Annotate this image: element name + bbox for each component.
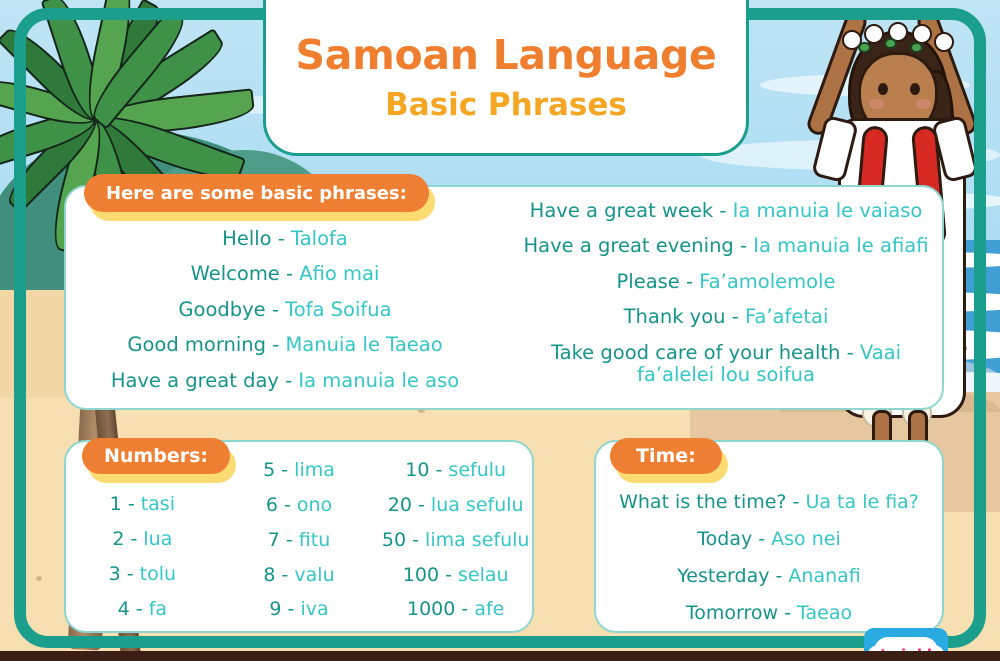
number-samoan: fitu: [299, 529, 330, 551]
time-row: What is the time? - Ua ta le fia?: [604, 492, 934, 514]
time-samoan: Aso nei: [771, 528, 841, 550]
number-samoan: valu: [294, 564, 334, 586]
number-value: 50: [382, 529, 406, 551]
phrase-row: Good morning - Manuia le Taeao: [90, 334, 480, 356]
numbers-column-3: 10 - sefulu 20 - lua sefulu 50 - lima se…: [377, 450, 534, 630]
number-dash: -: [282, 564, 289, 586]
phrase-samoan: Tofa Soifua: [285, 298, 391, 321]
number-samoan: tasi: [141, 493, 175, 515]
phrase-dash: -: [740, 234, 747, 257]
time-english: What is the time?: [619, 491, 786, 513]
eye-left: [878, 83, 888, 95]
number-dash: -: [284, 494, 291, 516]
number-value: 9: [269, 598, 281, 620]
number-dash: -: [412, 529, 419, 551]
time-heading-label: Time:: [610, 438, 722, 474]
phrase-dash: -: [732, 305, 739, 328]
number-samoan: iva: [300, 598, 328, 620]
number-row: 3 - tolu: [64, 564, 221, 586]
cheek-blush-right: [916, 99, 931, 109]
numbers-heading-pill: Numbers:: [82, 438, 230, 474]
bottom-edge-strip: [0, 651, 1000, 661]
number-dash: -: [286, 529, 293, 551]
time-english: Yesterday: [677, 565, 769, 587]
time-dash: -: [784, 602, 791, 624]
phrase-english: Thank you: [624, 305, 726, 328]
phrase-row: Take good care of your health - Vaai fa’…: [520, 342, 932, 387]
number-row: 100 - selau: [377, 565, 534, 587]
sand-pebble: [556, 638, 564, 647]
number-dash: -: [445, 564, 452, 586]
number-samoan: lua: [143, 528, 172, 550]
phrase-dash: -: [686, 270, 693, 293]
phrase-english: Welcome: [191, 262, 280, 285]
number-value: 20: [388, 494, 412, 516]
poster-canvas: Samoan Language Basic Phrases Here are s…: [0, 0, 1000, 661]
number-samoan: ono: [297, 494, 332, 516]
time-dash: -: [793, 491, 800, 513]
number-value: 4: [118, 598, 130, 620]
phrase-dash: -: [286, 262, 293, 285]
crown-leaf: [884, 38, 897, 49]
number-value: 3: [109, 563, 121, 585]
number-samoan: selau: [458, 564, 509, 586]
number-row: 50 - lima sefulu: [377, 530, 534, 552]
phrase-row: Please - Fa’amolemole: [520, 271, 932, 293]
number-samoan: sefulu: [448, 459, 506, 481]
number-value: 5: [263, 459, 275, 481]
number-dash: -: [136, 598, 143, 620]
number-row: 7 - fitu: [221, 530, 378, 552]
phrase-english: Please: [617, 270, 680, 293]
number-row: 1000 - afe: [377, 599, 534, 621]
number-value: 2: [112, 528, 124, 550]
number-value: 8: [263, 564, 275, 586]
eye-right: [910, 83, 920, 95]
page-title: Samoan Language: [295, 31, 716, 79]
phrases-right-column: Have a great week - Ia manuia le vaiaso …: [520, 200, 932, 387]
crown-leaf: [858, 42, 871, 53]
phrase-row: Have a great day - Ia manuia le aso: [90, 370, 480, 392]
number-row: 1 - tasi: [64, 494, 221, 516]
phrase-dash: -: [278, 227, 285, 250]
number-value: 10: [405, 459, 429, 481]
phrase-samoan: Ia manuia le aso: [298, 369, 459, 392]
crown-flower: [934, 32, 954, 52]
phrase-samoan: Talofa: [291, 227, 348, 250]
phrase-samoan: Ia manuia le vaiaso: [733, 199, 923, 222]
crown-flower: [864, 24, 884, 44]
phrase-row: Have a great evening - Ia manuia le afia…: [520, 235, 932, 257]
phrase-english: Goodbye: [178, 298, 265, 321]
number-value: 6: [266, 494, 278, 516]
time-heading-pill: Time:: [610, 438, 722, 474]
phrase-samoan: Ia manuia le afiafi: [753, 234, 928, 257]
phrase-row: Hello - Talofa: [90, 228, 480, 250]
phrase-english: Good morning: [127, 333, 266, 356]
phrase-samoan: Fa’amolemole: [699, 270, 835, 293]
phrase-english: Have a great week: [530, 199, 714, 222]
time-samoan: Ua ta le fia?: [805, 491, 918, 513]
number-dash: -: [288, 598, 295, 620]
number-dash: -: [128, 493, 135, 515]
number-value: 100: [403, 564, 439, 586]
time-rows: What is the time? - Ua ta le fia? Today …: [604, 492, 934, 624]
number-row: 8 - valu: [221, 565, 378, 587]
time-row: Yesterday - Ananafi: [604, 566, 934, 588]
basic-phrases-heading-label: Here are some basic phrases:: [84, 174, 429, 212]
phrase-row: Welcome - Afio mai: [90, 263, 480, 285]
phrase-dash: -: [272, 333, 279, 356]
time-dash: -: [758, 528, 765, 550]
phrase-english: Hello: [222, 227, 271, 250]
phrase-samoan: Manuia le Taeao: [285, 333, 442, 356]
number-samoan: lima sefulu: [425, 529, 529, 551]
phrase-english: Have a great day: [111, 369, 279, 392]
number-row: 5 - lima: [221, 460, 378, 482]
flower-crown: [842, 24, 956, 58]
phrase-dash: -: [285, 369, 292, 392]
phrase-english: Have a great evening: [524, 234, 734, 257]
number-dash: -: [418, 494, 425, 516]
phrase-dash: -: [719, 199, 726, 222]
phrase-samoan: Fa’afetai: [745, 305, 828, 328]
phrase-english: Take good care of your health: [551, 341, 840, 364]
title-panel: Samoan Language Basic Phrases: [263, 0, 749, 156]
phrases-left-column: Hello - Talofa Welcome - Afio mai Goodby…: [90, 228, 480, 392]
number-samoan: lima: [294, 459, 335, 481]
page-subtitle: Basic Phrases: [385, 87, 627, 123]
time-row: Tomorrow - Taeao: [604, 603, 934, 625]
number-dash: -: [127, 563, 134, 585]
numbers-heading-label: Numbers:: [82, 438, 230, 474]
numbers-column-2: 5 - lima 6 - ono 7 - fitu 8 - valu 9 -: [221, 450, 378, 630]
number-value: 7: [268, 529, 280, 551]
crown-flower: [912, 24, 932, 44]
time-samoan: Taeao: [797, 602, 852, 624]
number-value: 1: [110, 493, 122, 515]
number-samoan: lua sefulu: [431, 494, 524, 516]
number-samoan: afe: [474, 598, 504, 620]
time-row: Today - Aso nei: [604, 529, 934, 551]
number-row: 6 - ono: [221, 495, 378, 517]
number-row: 4 - fa: [64, 599, 221, 621]
number-row: 10 - sefulu: [377, 460, 534, 482]
number-dash: -: [130, 528, 137, 550]
phrase-samoan: Afio mai: [299, 262, 379, 285]
number-row: 20 - lua sefulu: [377, 495, 534, 517]
number-row: 2 - lua: [64, 529, 221, 551]
cheek-blush-left: [869, 99, 884, 109]
number-samoan: fa: [149, 598, 167, 620]
phrase-row: Thank you - Fa’afetai: [520, 306, 932, 328]
number-row: 9 - iva: [221, 599, 378, 621]
phrase-dash: -: [847, 341, 854, 364]
number-value: 1000: [407, 598, 455, 620]
number-dash: -: [436, 459, 443, 481]
number-dash: -: [461, 598, 468, 620]
phrase-row: Goodbye - Tofa Soifua: [90, 299, 480, 321]
crown-leaf: [910, 42, 923, 53]
number-samoan: tolu: [140, 563, 176, 585]
basic-phrases-heading-pill: Here are some basic phrases:: [84, 174, 429, 212]
phrase-dash: -: [272, 298, 279, 321]
number-dash: -: [281, 459, 288, 481]
time-samoan: Ananafi: [788, 565, 860, 587]
phrase-row: Have a great week - Ia manuia le vaiaso: [520, 200, 932, 222]
time-dash: -: [776, 565, 783, 587]
time-english: Today: [697, 528, 752, 550]
time-english: Tomorrow: [686, 602, 778, 624]
